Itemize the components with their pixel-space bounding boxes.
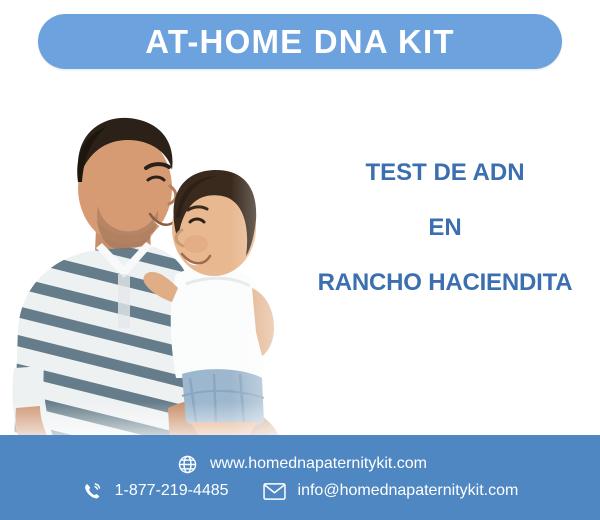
- headline-line-1: TEST DE ADN: [300, 160, 590, 185]
- email-item[interactable]: info@homednapaternitykit.com: [263, 482, 519, 501]
- family-photo: [0, 78, 330, 446]
- phone-icon: [82, 481, 103, 502]
- website-item[interactable]: www.homednapaternitykit.com: [177, 454, 427, 475]
- website-text: www.homednapaternitykit.com: [210, 456, 427, 472]
- footer-row-phone-email: 1-877-219-4485 info@homednapaternitykit.…: [82, 481, 519, 502]
- footer-row-website: www.homednapaternitykit.com: [173, 454, 427, 475]
- envelope-icon: [263, 482, 286, 501]
- email-text: info@homednapaternitykit.com: [298, 483, 519, 499]
- at-home-dna-kit-badge: AT-HOME DNA KIT: [38, 14, 562, 69]
- globe-icon: [177, 454, 198, 475]
- phone-item[interactable]: 1-877-219-4485: [82, 481, 229, 502]
- headline-block: TEST DE ADN EN RANCHO HACIENDITA: [300, 160, 590, 296]
- headline-line-3: RANCHO HACIENDITA: [300, 270, 590, 295]
- poster: AT-HOME DNA KIT: [0, 0, 600, 520]
- headline-line-2: EN: [300, 215, 590, 240]
- footer-contact-bar: www.homednapaternitykit.com 1-877-219-44…: [0, 435, 600, 520]
- header-badge-container: AT-HOME DNA KIT: [0, 14, 600, 69]
- phone-text: 1-877-219-4485: [115, 483, 229, 499]
- family-photo-illustration: [0, 78, 330, 446]
- badge-label: AT-HOME DNA KIT: [145, 25, 454, 58]
